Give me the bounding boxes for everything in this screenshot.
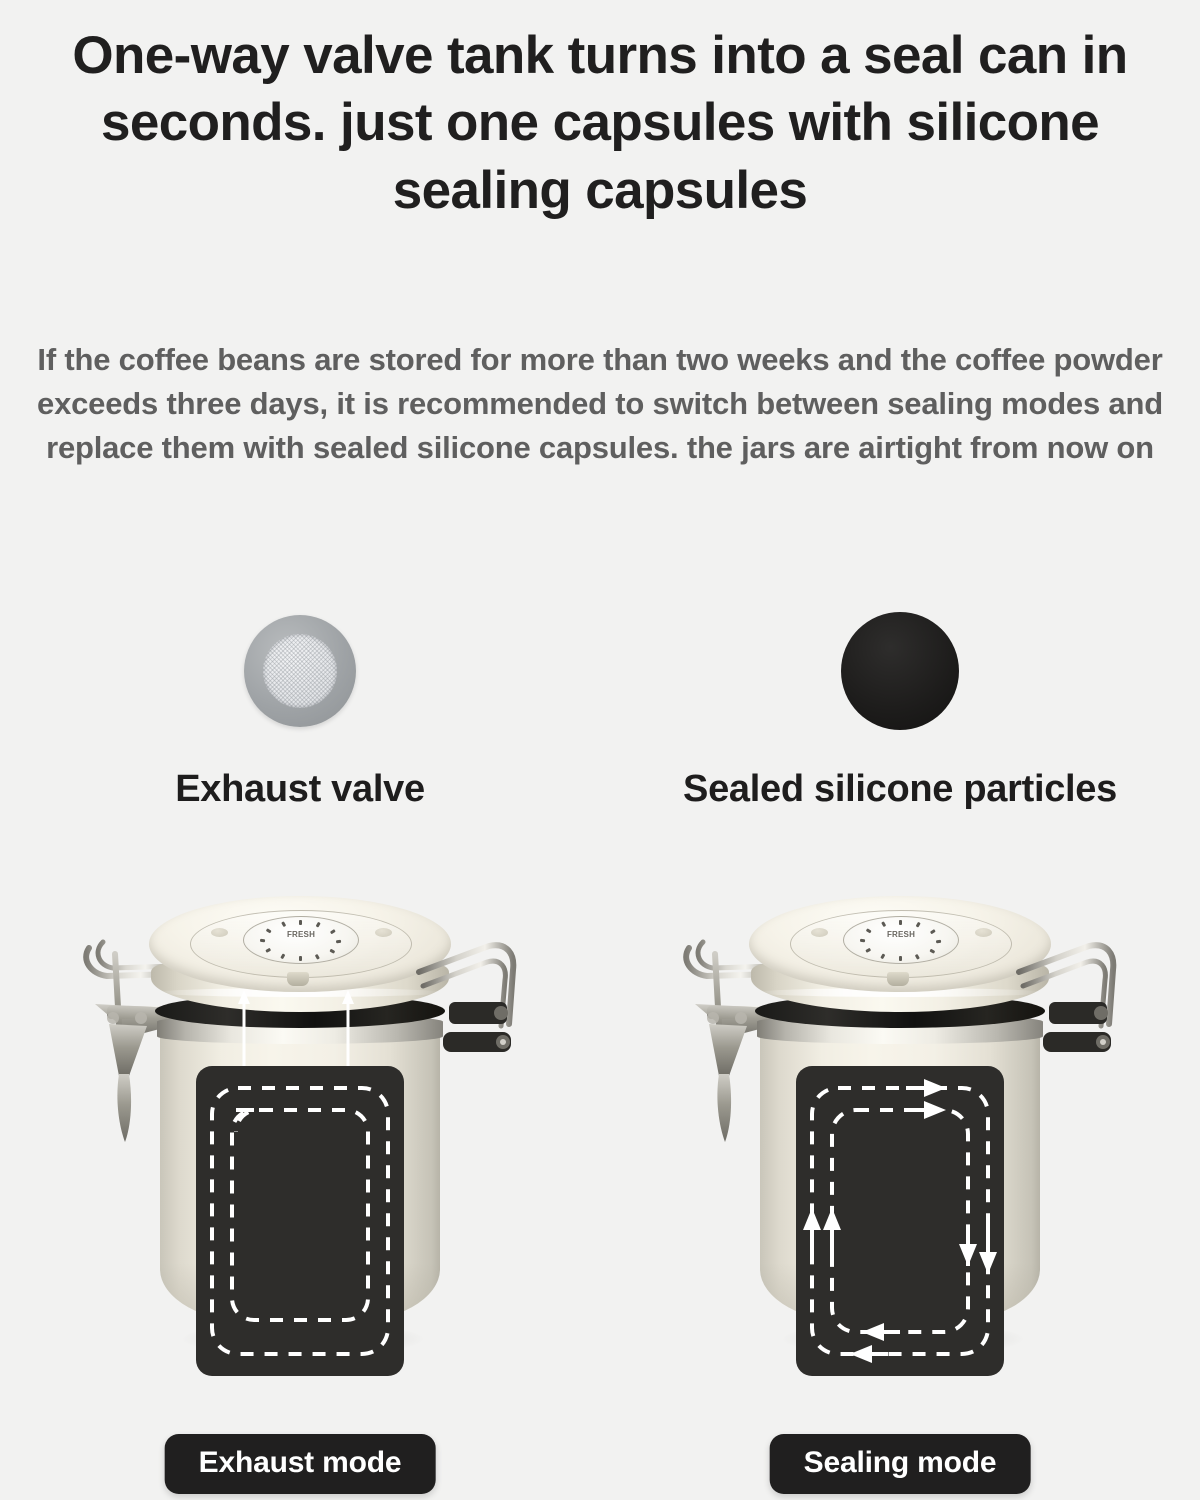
canister-exhaust: FRESH — [65, 868, 535, 1368]
parts-callout-row: Exhaust valve Sealed silicone particles — [0, 606, 1200, 811]
silicone-particle-icon — [841, 612, 959, 730]
part-media-silicone-particles — [841, 606, 959, 736]
hinge-bracket-icon — [413, 928, 531, 1108]
part-exhaust-valve: Exhaust valve — [0, 606, 600, 811]
canister-sealing: FRESH — [665, 868, 1135, 1368]
part-media-exhaust-valve — [244, 606, 356, 736]
lid-dimple-right — [375, 928, 392, 937]
exhaust-valve-icon — [244, 615, 356, 727]
part-label-exhaust-valve: Exhaust valve — [175, 768, 425, 811]
page-title: One-way valve tank turns into a seal can… — [40, 22, 1160, 224]
jar-column-sealing: FRESH — [600, 860, 1200, 1500]
airflow-panel-exhaust — [196, 1066, 404, 1376]
freshness-dial-icon[interactable]: FRESH — [243, 916, 359, 964]
lid-dimple-left — [811, 928, 828, 937]
mode-pill-sealing[interactable]: Sealing mode — [770, 1434, 1031, 1494]
lid-release-nub[interactable] — [887, 972, 909, 986]
freshness-dial-icon[interactable]: FRESH — [843, 916, 959, 964]
freshness-dial-label: FRESH — [844, 930, 958, 939]
lid-dimple-right — [975, 928, 992, 937]
freshness-dial-label: FRESH — [244, 930, 358, 939]
airflow-panel-sealing — [796, 1066, 1004, 1376]
hinge-bracket-icon — [1013, 928, 1131, 1108]
mode-pill-exhaust[interactable]: Exhaust mode — [165, 1434, 436, 1494]
jar-comparison-stage: FRESH — [0, 860, 1200, 1500]
jar-column-exhaust: FRESH — [0, 860, 600, 1500]
description-paragraph: If the coffee beans are stored for more … — [25, 338, 1175, 470]
lid-release-nub[interactable] — [287, 972, 309, 986]
part-label-silicone-particles: Sealed silicone particles — [683, 768, 1117, 811]
lid-dimple-left — [211, 928, 228, 937]
part-silicone-particles: Sealed silicone particles — [600, 606, 1200, 811]
